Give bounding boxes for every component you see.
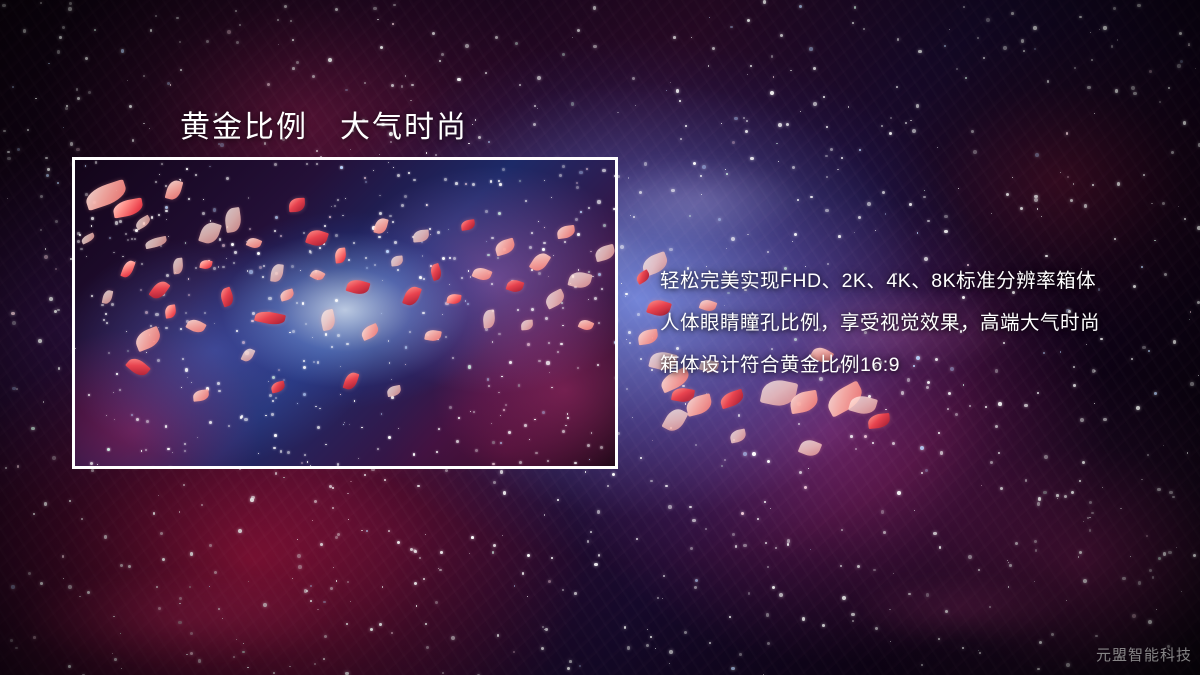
body-line-3: 箱体设计符合黄金比例16:9: [660, 344, 1160, 386]
body-line-1: 轻松完美实现FHD、2K、4K、8K标准分辨率箱体: [660, 260, 1160, 302]
page-title: 黄金比例 大气时尚: [180, 102, 468, 146]
watermark-label: 元盟智能科技: [1096, 644, 1192, 665]
framed-image[interactable]: [72, 157, 618, 469]
body-text-block: 轻松完美实现FHD、2K、4K、8K标准分辨率箱体 人体眼睛瞳孔比例，享受视觉效…: [660, 260, 1160, 386]
slide-canvas: 黄金比例 大气时尚 轻松完美实现FHD、2K、4K、8K标准分辨率箱体 人体眼睛…: [0, 0, 1200, 675]
framed-image-content: [75, 160, 615, 466]
body-line-2: 人体眼睛瞳孔比例，享受视觉效果，高端大气时尚: [660, 302, 1160, 344]
